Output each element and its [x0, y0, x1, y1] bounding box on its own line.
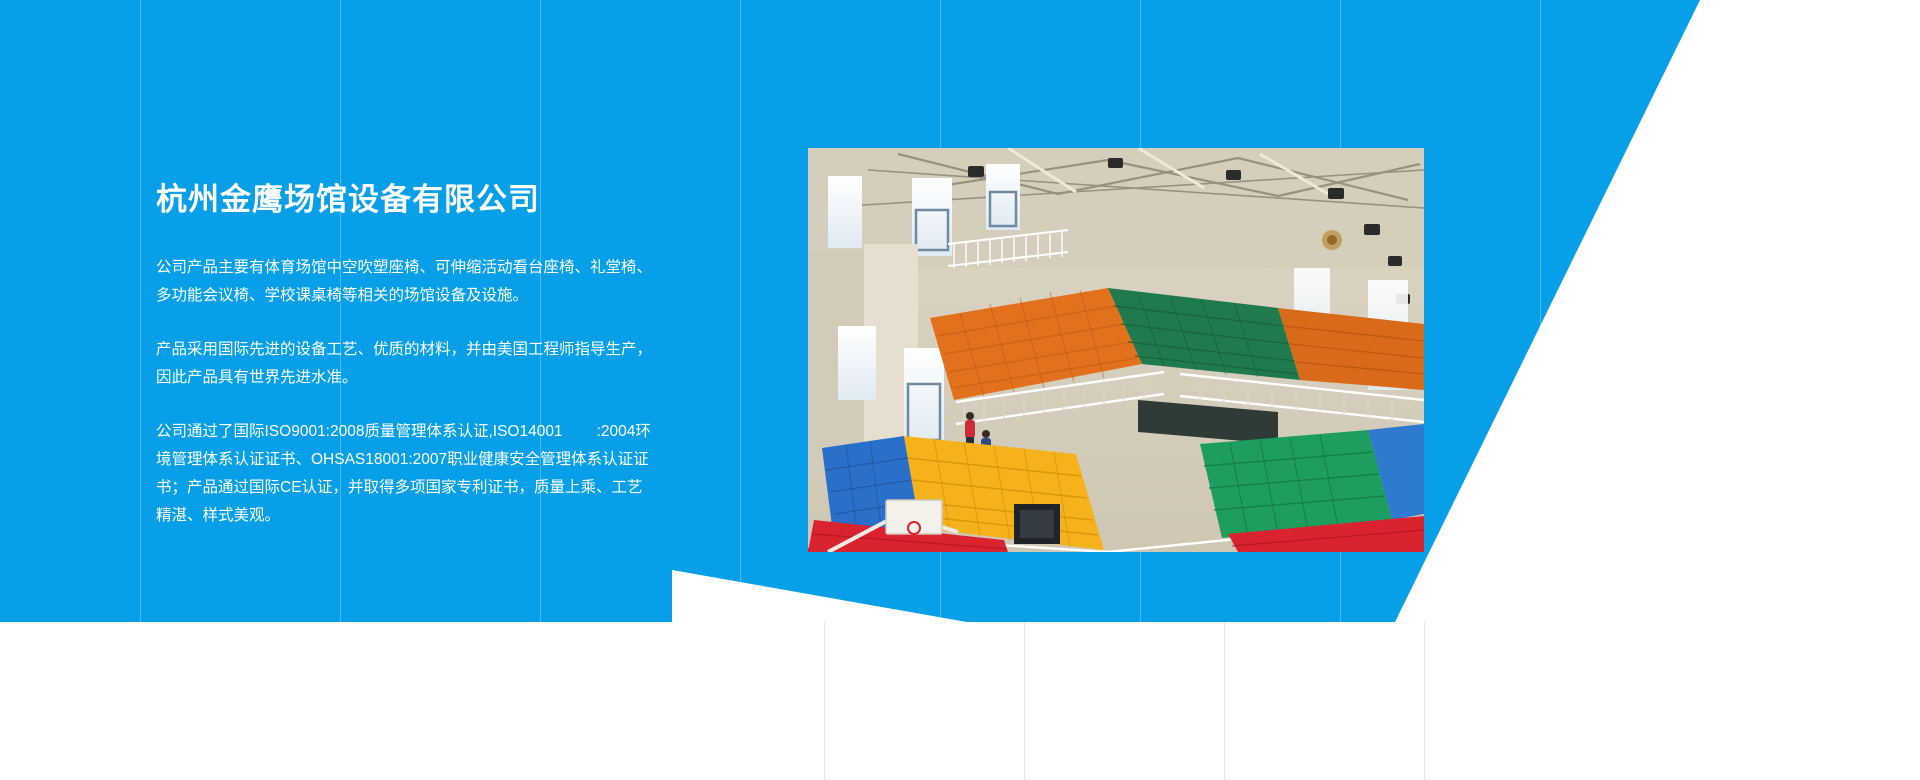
gymnasium-photo-illustration: [808, 148, 1424, 552]
hero-banner: 杭州金鹰场馆设备有限公司 公司产品主要有体育场馆中空吹塑座椅、可伸缩活动看台座椅…: [0, 0, 1920, 780]
gymnasium-photo: [808, 148, 1424, 552]
company-intro-block: 杭州金鹰场馆设备有限公司 公司产品主要有体育场馆中空吹塑座椅、可伸缩活动看台座椅…: [156, 180, 666, 530]
intro-paragraph-certifications: 公司通过了国际ISO9001:2008质量管理体系认证,ISO14001:200…: [156, 418, 656, 530]
bottom-separator: [1224, 622, 1225, 780]
bottom-separator: [1024, 622, 1025, 780]
bottom-separator: [824, 622, 825, 780]
page-title: 杭州金鹰场馆设备有限公司: [156, 180, 666, 220]
bottom-white-strip: [0, 622, 1920, 780]
intro-paragraph-quality: 产品采用国际先进的设备工艺、优质的材料，并由美国工程师指导生产，因此产品具有世界…: [156, 336, 656, 392]
cert-text-part1: 公司通过了国际ISO9001:2008质量管理体系认证,ISO14001: [156, 423, 563, 440]
intro-paragraph-products: 公司产品主要有体育场馆中空吹塑座椅、可伸缩活动看台座椅、礼堂椅、多功能会议椅、学…: [156, 254, 656, 310]
bottom-separator: [1424, 622, 1425, 780]
